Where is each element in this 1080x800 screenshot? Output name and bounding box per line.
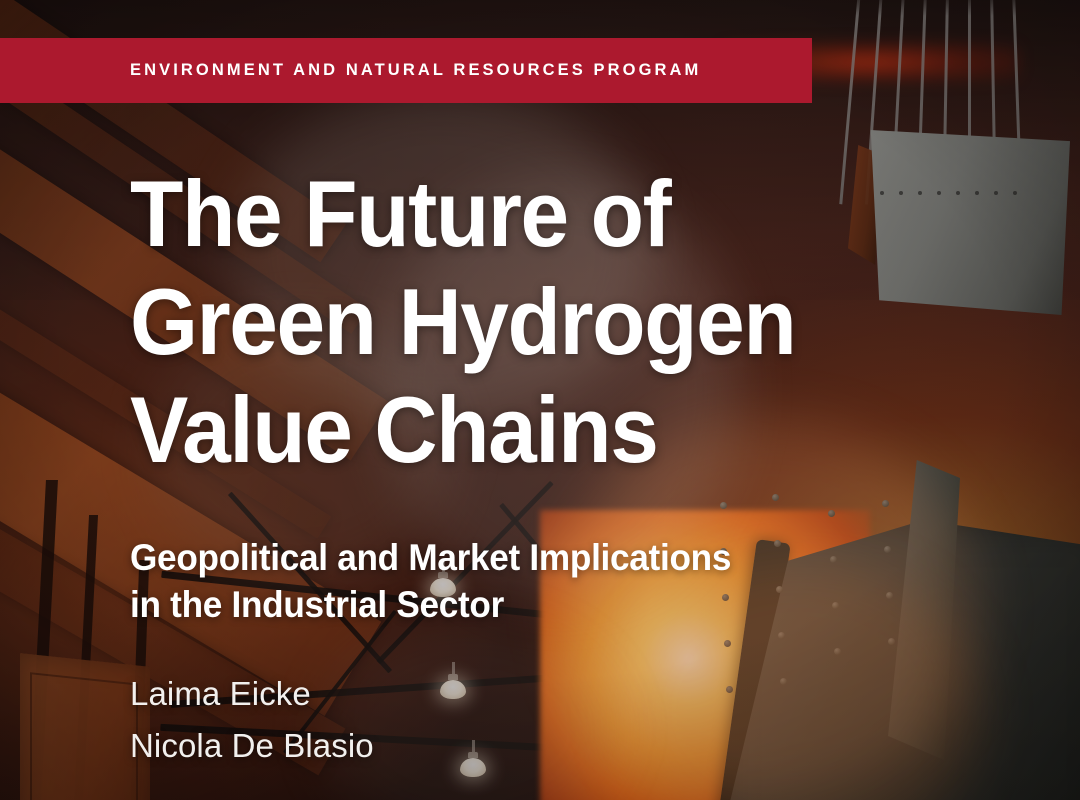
subtitle-line-1: Geopolitical and Market Implications [130,534,947,581]
author-name: Laima Eicke [130,668,374,720]
cover-content: ENVIRONMENT AND NATURAL RESOURCES PROGRA… [0,0,1080,800]
page-title: The Future of Green Hydrogen Value Chain… [130,160,1030,484]
author-name: Nicola De Blasio [130,720,374,772]
page-subtitle: Geopolitical and Market Implications in … [130,534,990,628]
subtitle-line-2: in the Industrial Sector [130,581,947,628]
title-line-3: Value Chains [130,376,967,484]
title-line-2: Green Hydrogen [130,268,967,376]
program-banner-label: ENVIRONMENT AND NATURAL RESOURCES PROGRA… [0,61,701,80]
title-line-1: The Future of [130,160,967,268]
author-list: Laima Eicke Nicola De Blasio [130,668,374,772]
report-cover: ENVIRONMENT AND NATURAL RESOURCES PROGRA… [0,0,1080,800]
program-banner: ENVIRONMENT AND NATURAL RESOURCES PROGRA… [0,38,812,103]
